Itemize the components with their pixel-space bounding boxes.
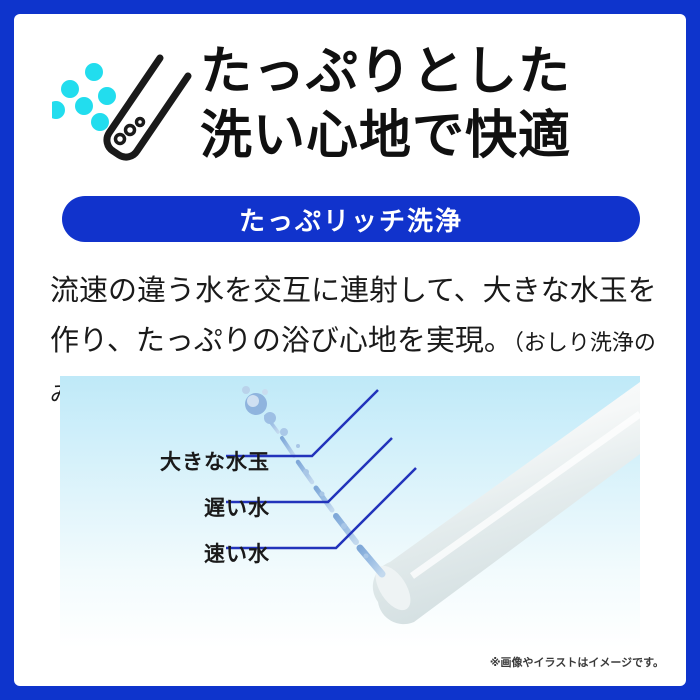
feature-name-badge: たっぷリッチ洗浄 [62,196,640,242]
callout-group: 大きな水玉 遅い水 速い水 [60,376,640,648]
feature-name-label: たっぷリッチ洗浄 [239,201,463,238]
description-line-1: 流速の違う水を交互に連射して、大きな水玉を [50,275,657,307]
droplet-group [52,63,116,131]
inner-card: たっぷりとした 洗い心地で快適 たっぷリッチ洗浄 流速の違う水を交互に連射して、… [14,14,686,686]
description-line-2: 作り、たっぷりの浴び心地を実現。 [50,325,513,357]
water-jet-nozzle-photo: 大きな水玉 遅い水 速い水 [60,376,640,648]
poster-frame: たっぷりとした 洗い心地で快適 たっぷリッチ洗浄 流速の違う水を交互に連射して、… [0,0,700,700]
callout-label-large-droplet: 大きな水玉 [120,446,270,476]
heading-line-1: たっぷりとした [200,40,670,104]
page-title: たっぷりとした 洗い心地で快適 [200,40,670,168]
nozzle-spray-icon [52,44,202,174]
callout-label-fast-water: 速い水 [120,538,270,568]
disclaimer-text: ※画像やイラストはイメージです。 [490,654,664,670]
heading-line-2: 洗い心地で快適 [200,104,670,168]
header-section: たっぷりとした 洗い心地で快適 [14,14,686,190]
callout-label-slow-water: 遅い水 [120,492,270,522]
